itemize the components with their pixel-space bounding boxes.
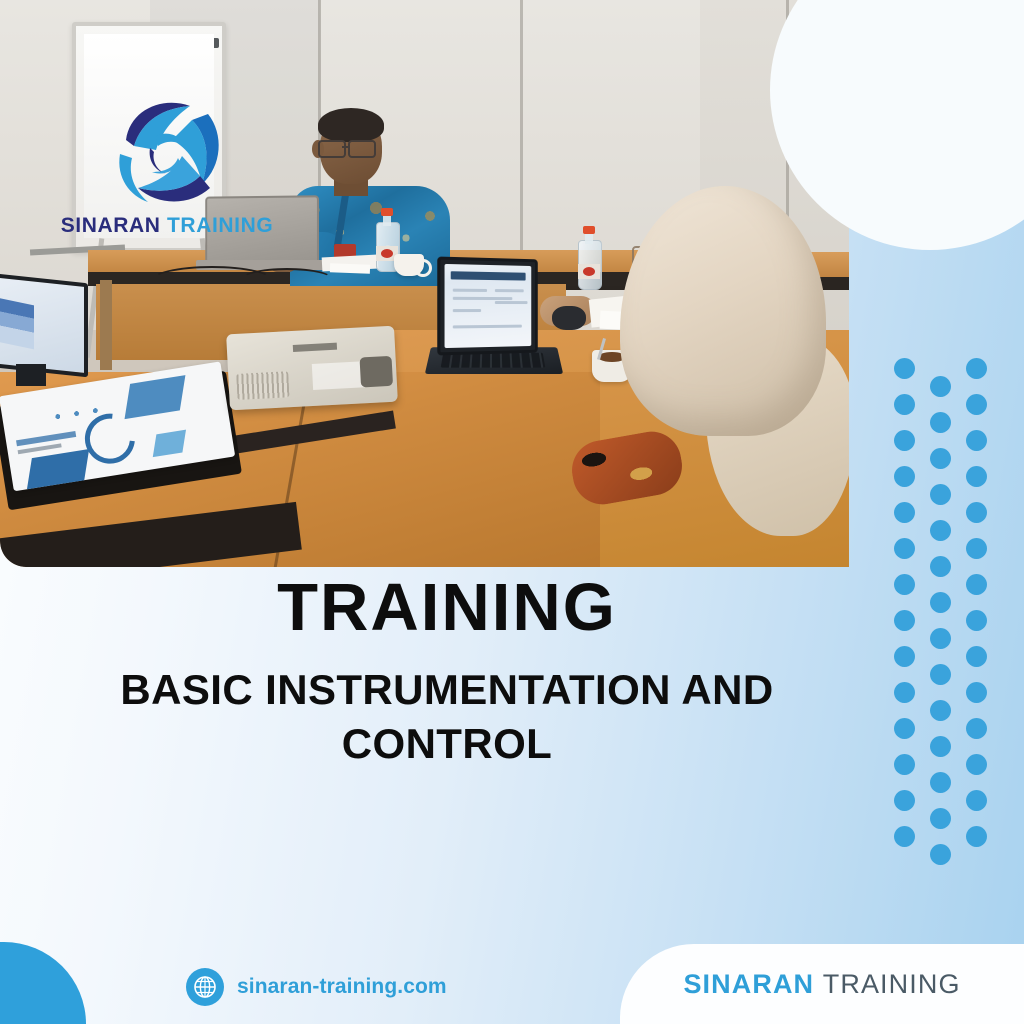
footer-wordmark: SINARAN TRAINING bbox=[683, 969, 960, 1000]
coffee-cup bbox=[394, 254, 424, 276]
monitor-slide-chart bbox=[0, 298, 34, 349]
paper-sheet bbox=[330, 263, 370, 273]
poster-canvas: SINARAN TRAINING TRAINING BASIC INSTRUME… bbox=[0, 0, 1024, 1024]
screen-toolbar bbox=[451, 271, 526, 280]
monitor-screen bbox=[0, 273, 88, 378]
computer-mouse bbox=[552, 306, 586, 330]
flipchart-clip bbox=[171, 38, 219, 48]
course-subtitle: BASIC INSTRUMENTATION AND CONTROL bbox=[0, 663, 894, 771]
projector-body bbox=[226, 326, 398, 411]
laptop-lid bbox=[437, 257, 538, 356]
instructor-hair bbox=[318, 108, 384, 142]
projector bbox=[226, 326, 398, 411]
laptop-keyboard bbox=[441, 353, 546, 368]
corner-accent-shape bbox=[0, 942, 86, 1024]
participant-person bbox=[614, 186, 849, 567]
footer-brand-secondary: TRAINING bbox=[823, 969, 961, 999]
projector-vent bbox=[236, 371, 289, 400]
website-link[interactable]: sinaran-training.com bbox=[186, 968, 447, 1006]
decorative-dot-pattern bbox=[894, 358, 994, 828]
laptop-screen bbox=[445, 264, 532, 348]
instructor-table-leg bbox=[100, 280, 112, 370]
projector-brand-text bbox=[293, 343, 337, 352]
footer-brand-panel: SINARAN TRAINING bbox=[620, 944, 1024, 1024]
water-bottle bbox=[578, 226, 600, 288]
participant-laptop bbox=[428, 258, 560, 382]
website-url-text: sinaran-training.com bbox=[237, 975, 447, 999]
projector-label-plate bbox=[312, 361, 365, 390]
logo-wordmark: SINARAN TRAINING bbox=[61, 214, 274, 238]
cable bbox=[240, 268, 334, 292]
monitor-stand bbox=[16, 364, 46, 386]
folder-brand-text bbox=[16, 431, 76, 446]
swirl-vortex-logo-icon bbox=[104, 92, 230, 212]
logo-word-primary: SINARAN bbox=[61, 214, 161, 237]
page-title: TRAINING bbox=[0, 574, 894, 641]
eyeglasses-icon bbox=[314, 140, 378, 154]
hijab bbox=[620, 186, 826, 436]
logo-word-secondary: TRAINING bbox=[167, 214, 273, 237]
external-monitor bbox=[0, 278, 84, 388]
training-photo bbox=[0, 0, 849, 567]
footer-brand-primary: SINARAN bbox=[683, 969, 814, 999]
projector-lens bbox=[360, 356, 394, 388]
globe-icon bbox=[186, 968, 224, 1006]
title-block: TRAINING BASIC INSTRUMENTATION AND CONTR… bbox=[0, 574, 894, 771]
photo-scene bbox=[0, 0, 849, 567]
brand-logo: SINARAN TRAINING bbox=[52, 92, 282, 242]
